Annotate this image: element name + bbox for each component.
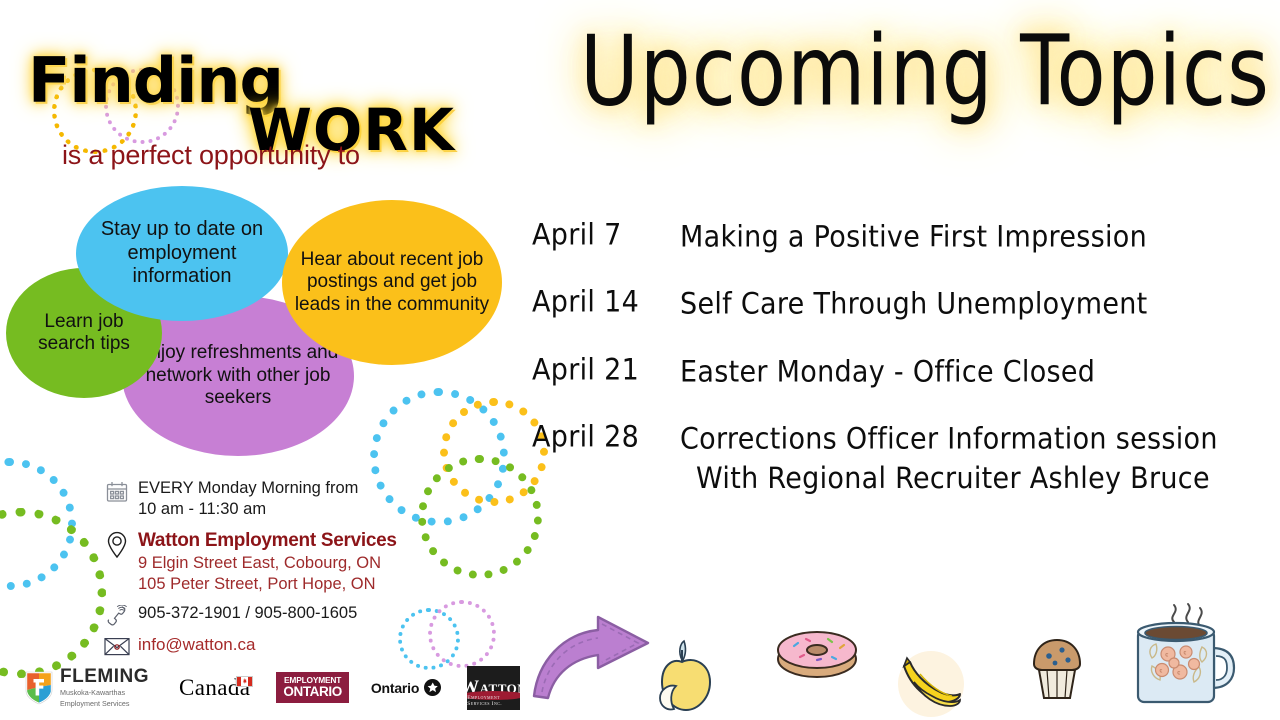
- logo-fleming: FLEMING Muskoka-Kawarthas Employment Ser…: [24, 667, 149, 708]
- topic-title: Easter Monday - Office Closed: [680, 353, 1095, 393]
- donut-illustration: [772, 626, 862, 680]
- topic-title: Corrections Officer Information session: [680, 423, 1218, 457]
- logo-watton: Watton Employment Services Inc.: [467, 666, 520, 710]
- contact-row-schedule: EVERY Monday Morning from 10 am - 11:30 …: [96, 478, 456, 520]
- location-text: Watton Employment Services 9 Elgin Stree…: [138, 529, 397, 596]
- topic-title: Self Care Through Unemployment: [680, 285, 1148, 325]
- purple-arrow-illustration: [528, 612, 656, 704]
- contact-row-email[interactable]: info@watton.ca: [96, 635, 456, 656]
- topic-row: April 7 Making a Positive First Impressi…: [532, 218, 1272, 258]
- schedule-text: EVERY Monday Morning from 10 am - 11:30 …: [138, 478, 358, 520]
- envelope-icon: [96, 635, 138, 656]
- address-line-2: 105 Peter Street, Port Hope, ON: [138, 574, 397, 595]
- fleming-wordmark: FLEMING: [60, 667, 149, 686]
- schedule-line-1: EVERY Monday Morning from: [138, 478, 358, 499]
- ontario-wordmark: Ontario: [371, 680, 419, 696]
- contact-block: EVERY Monday Morning from 10 am - 11:30 …: [96, 478, 456, 665]
- topic-row: April 28 Corrections Officer Information…: [532, 420, 1272, 500]
- benefit-label-job-postings: Hear about recent job postings and get j…: [294, 249, 490, 316]
- fleming-shield-icon: [24, 670, 54, 706]
- topic-title-second-line: With Regional Recruiter Ashley Bruce: [696, 460, 1218, 500]
- headline-finding: Finding: [28, 50, 283, 112]
- logo-employment-ontario: EMPLOYMENT ONTARIO: [276, 672, 348, 704]
- phone-icon: [96, 603, 138, 627]
- email-address[interactable]: info@watton.ca: [138, 635, 255, 655]
- fleming-subtitle-2: Employment Services: [60, 699, 149, 708]
- fleming-subtitle-1: Muskoka-Kawarthas: [60, 688, 149, 697]
- watton-subtitle: Employment Services Inc.: [467, 695, 520, 707]
- right-panel: Upcoming Topics April 7 Making a Positiv…: [520, 0, 1280, 720]
- benefit-label-learn-tips: Learn job search tips: [16, 311, 152, 356]
- logo-canada: Canada: [179, 675, 250, 701]
- schedule-line-2: 10 am - 11:30 am: [138, 499, 358, 520]
- phone-text: 905-372-1901 / 905-800-1605: [138, 603, 357, 624]
- benefit-label-refreshments: Enjoy refreshments and network with othe…: [132, 342, 344, 409]
- poster-canvas: Finding WORK is a perfect opportunity to…: [0, 0, 1280, 720]
- employment-ontario-line-2: ONTARIO: [283, 685, 341, 699]
- partner-logos: FLEMING Muskoka-Kawarthas Employment Ser…: [24, 660, 520, 715]
- organization-name: Watton Employment Services: [138, 529, 397, 553]
- poster-subtitle: is a perfect opportunity to: [62, 140, 360, 171]
- dotted-circle-blue-left: [0, 458, 76, 590]
- trillium-icon: [424, 679, 441, 696]
- topic-date: April 14: [532, 285, 680, 319]
- coffee-mug-illustration: [1116, 602, 1246, 710]
- left-panel: Finding WORK is a perfect opportunity to…: [0, 0, 520, 720]
- canada-flag-icon: [236, 676, 253, 687]
- contact-row-phone: 905-372-1901 / 905-800-1605: [96, 603, 456, 627]
- banana-illustration: [890, 644, 972, 718]
- employment-ontario-line-1: EMPLOYMENT: [283, 676, 341, 684]
- topic-row: April 21 Easter Monday - Office Closed: [532, 353, 1272, 393]
- topic-title-wrapper: Corrections Officer Information session …: [680, 420, 1218, 500]
- address-line-1: 9 Elgin Street East, Cobourg, ON: [138, 553, 397, 574]
- benefit-label-stay-updated: Stay up to date on employment informatio…: [84, 218, 280, 289]
- topic-title: Making a Positive First Impression: [680, 218, 1147, 258]
- topics-list: April 7 Making a Positive First Impressi…: [532, 218, 1272, 524]
- location-pin-icon: [96, 529, 138, 559]
- topic-date: April 28: [532, 420, 680, 454]
- topic-date: April 7: [532, 218, 680, 252]
- benefit-bubble-stay-updated: Stay up to date on employment informatio…: [76, 186, 288, 321]
- dotted-circle-green-left: [0, 508, 106, 678]
- topic-row: April 14 Self Care Through Unemployment: [532, 285, 1272, 325]
- calendar-icon: [96, 478, 138, 504]
- contact-row-location: Watton Employment Services 9 Elgin Stree…: [96, 529, 456, 596]
- upcoming-topics-heading: Upcoming Topics: [580, 22, 1270, 124]
- benefit-bubble-job-postings: Hear about recent job postings and get j…: [282, 200, 502, 365]
- maple-leaf-icon: [243, 678, 247, 684]
- logo-ontario: Ontario: [371, 679, 441, 696]
- muffin-illustration: [1020, 634, 1094, 702]
- apple-illustration: [642, 638, 722, 716]
- topic-date: April 21: [532, 353, 680, 387]
